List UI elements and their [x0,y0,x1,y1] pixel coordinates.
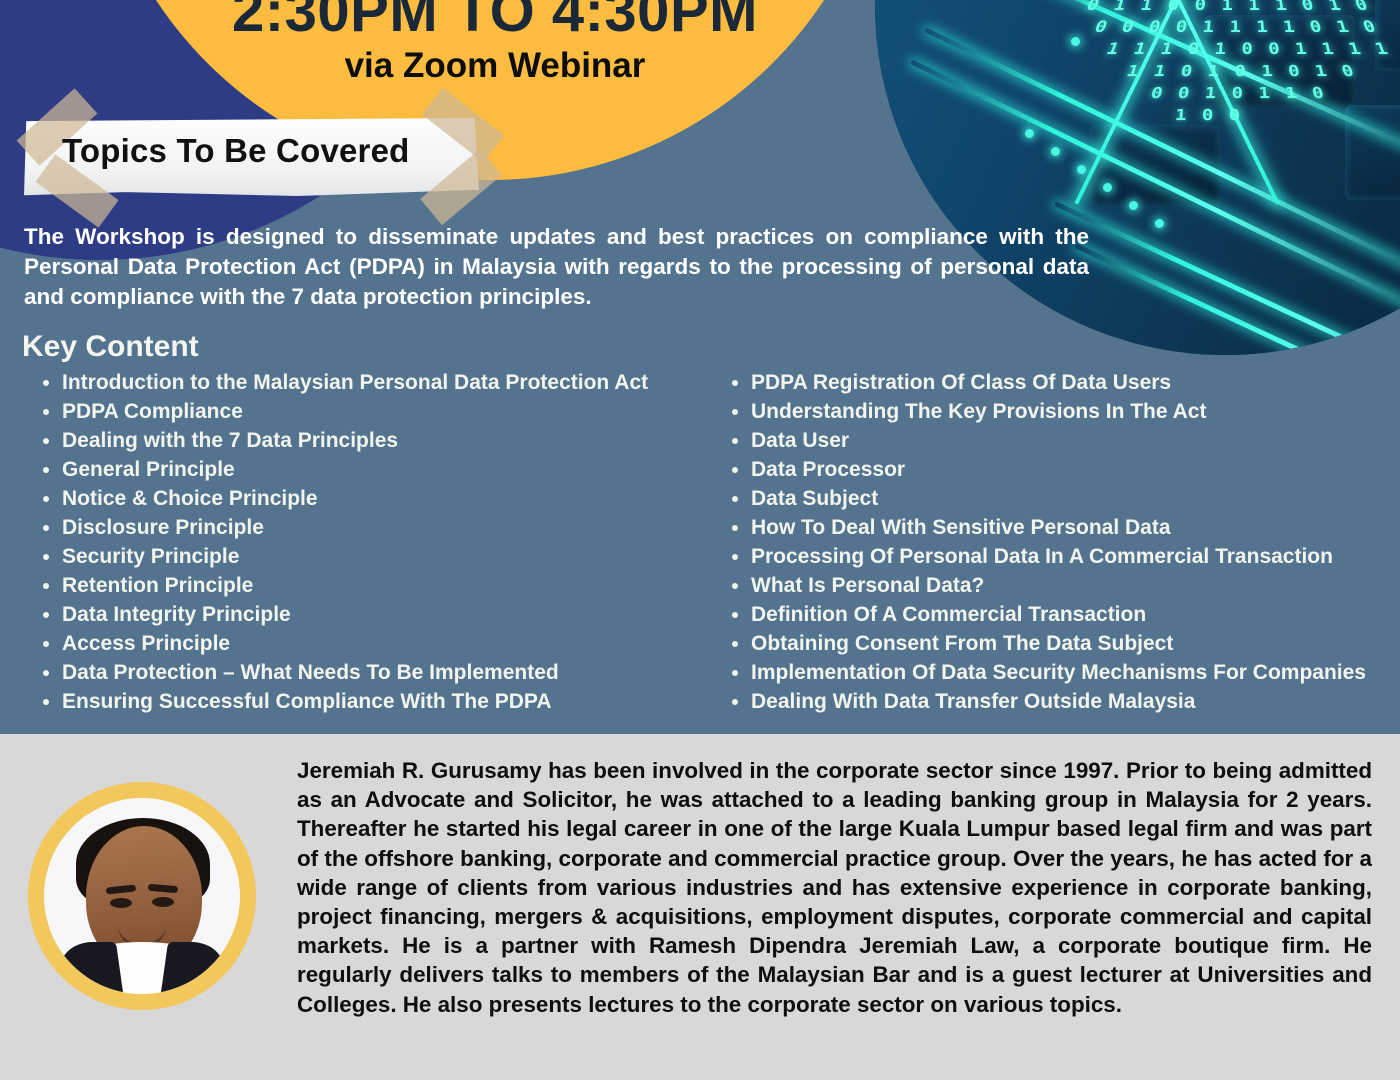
list-item: Dealing with the 7 Data Principles [62,426,693,455]
binary-digits: 0 0 0 0 1 1 1 1 0 1 0 [1091,19,1380,36]
list-item: Processing Of Personal Data In A Commerc… [751,542,1382,571]
list-item: PDPA Registration Of Class Of Data Users [751,368,1382,397]
list-item: Notice & Choice Principle [62,484,693,513]
led-dot [1051,147,1060,156]
key-content-right-column: PDPA Registration Of Class Of Data Users… [711,368,1382,716]
topics-label-banner: Topics To Be Covered [24,112,494,200]
list-item: Data Protection – What Needs To Be Imple… [62,658,693,687]
speaker-section: Jeremiah R. Gurusamy has been involved i… [0,734,1400,1080]
list-item: How To Deal With Sensitive Personal Data [751,513,1382,542]
poster-root: 1 1 0 1 0 1 0 0 1 0 1 1 0 0 1 1 1 0 1 0 … [0,0,1400,1080]
list-item: Implementation Of Data Security Mechanis… [751,658,1382,687]
led-dot [1077,165,1086,174]
list-item: Ensuring Successful Compliance With The … [62,687,693,716]
avatar [44,798,240,994]
list-item: Data Subject [751,484,1382,513]
portrait-suit-right [160,942,230,994]
key-content-left-column: Introduction to the Malaysian Personal D… [22,368,693,716]
led-dot [1025,129,1034,138]
speaker-biography: Jeremiah R. Gurusamy has been involved i… [297,756,1372,1019]
portrait-eye-right [152,897,174,907]
list-item: Data Integrity Principle [62,600,693,629]
led-dot [1155,219,1164,228]
binary-digits: 1 0 0 [1174,107,1243,124]
led-dot [1071,37,1080,46]
list-item: Understanding The Key Provisions In The … [751,397,1382,426]
list-item: Obtaining Consent From The Data Subject [751,629,1382,658]
session-time-heading: 2:30PM TO 4:30PM [0,0,990,45]
list-item: Retention Principle [62,571,693,600]
list-item: Data Processor [751,455,1382,484]
list-item: Disclosure Principle [62,513,693,542]
list-item: Security Principle [62,542,693,571]
key-content-heading: Key Content [22,330,199,364]
key-content-right-list: PDPA Registration Of Class Of Data Users… [711,368,1382,716]
list-item: What Is Personal Data? [751,571,1382,600]
topics-label-text: Topics To Be Covered [62,132,410,170]
led-dot [1103,183,1112,192]
binary-digits: 0 1 1 0 0 1 1 1 0 1 0 [1083,0,1372,14]
speaker-avatar-ring [28,782,256,1010]
list-item: Access Principle [62,629,693,658]
list-item: General Principle [62,455,693,484]
binary-digits: 1 1 1 0 1 0 0 1 1 1 1 [1103,41,1392,58]
list-item: Definition Of A Commercial Transaction [751,600,1382,629]
list-item: Dealing With Data Transfer Outside Malay… [751,687,1382,716]
list-item: Introduction to the Malaysian Personal D… [62,368,693,397]
workshop-description: The Workshop is designed to disseminate … [24,222,1089,312]
list-item: Data User [751,426,1382,455]
binary-digits: 1 1 0 1 0 1 0 1 0 [1124,63,1358,80]
binary-digits: 0 0 1 0 1 1 0 [1149,85,1328,102]
portrait-eye-left [110,898,132,908]
key-content-columns: Introduction to the Malaysian Personal D… [22,368,1382,716]
portrait-suit-left [54,942,124,994]
key-content-left-list: Introduction to the Malaysian Personal D… [22,368,693,716]
session-platform-label: via Zoom Webinar [0,46,990,86]
led-dot [1129,201,1138,210]
list-item: PDPA Compliance [62,397,693,426]
